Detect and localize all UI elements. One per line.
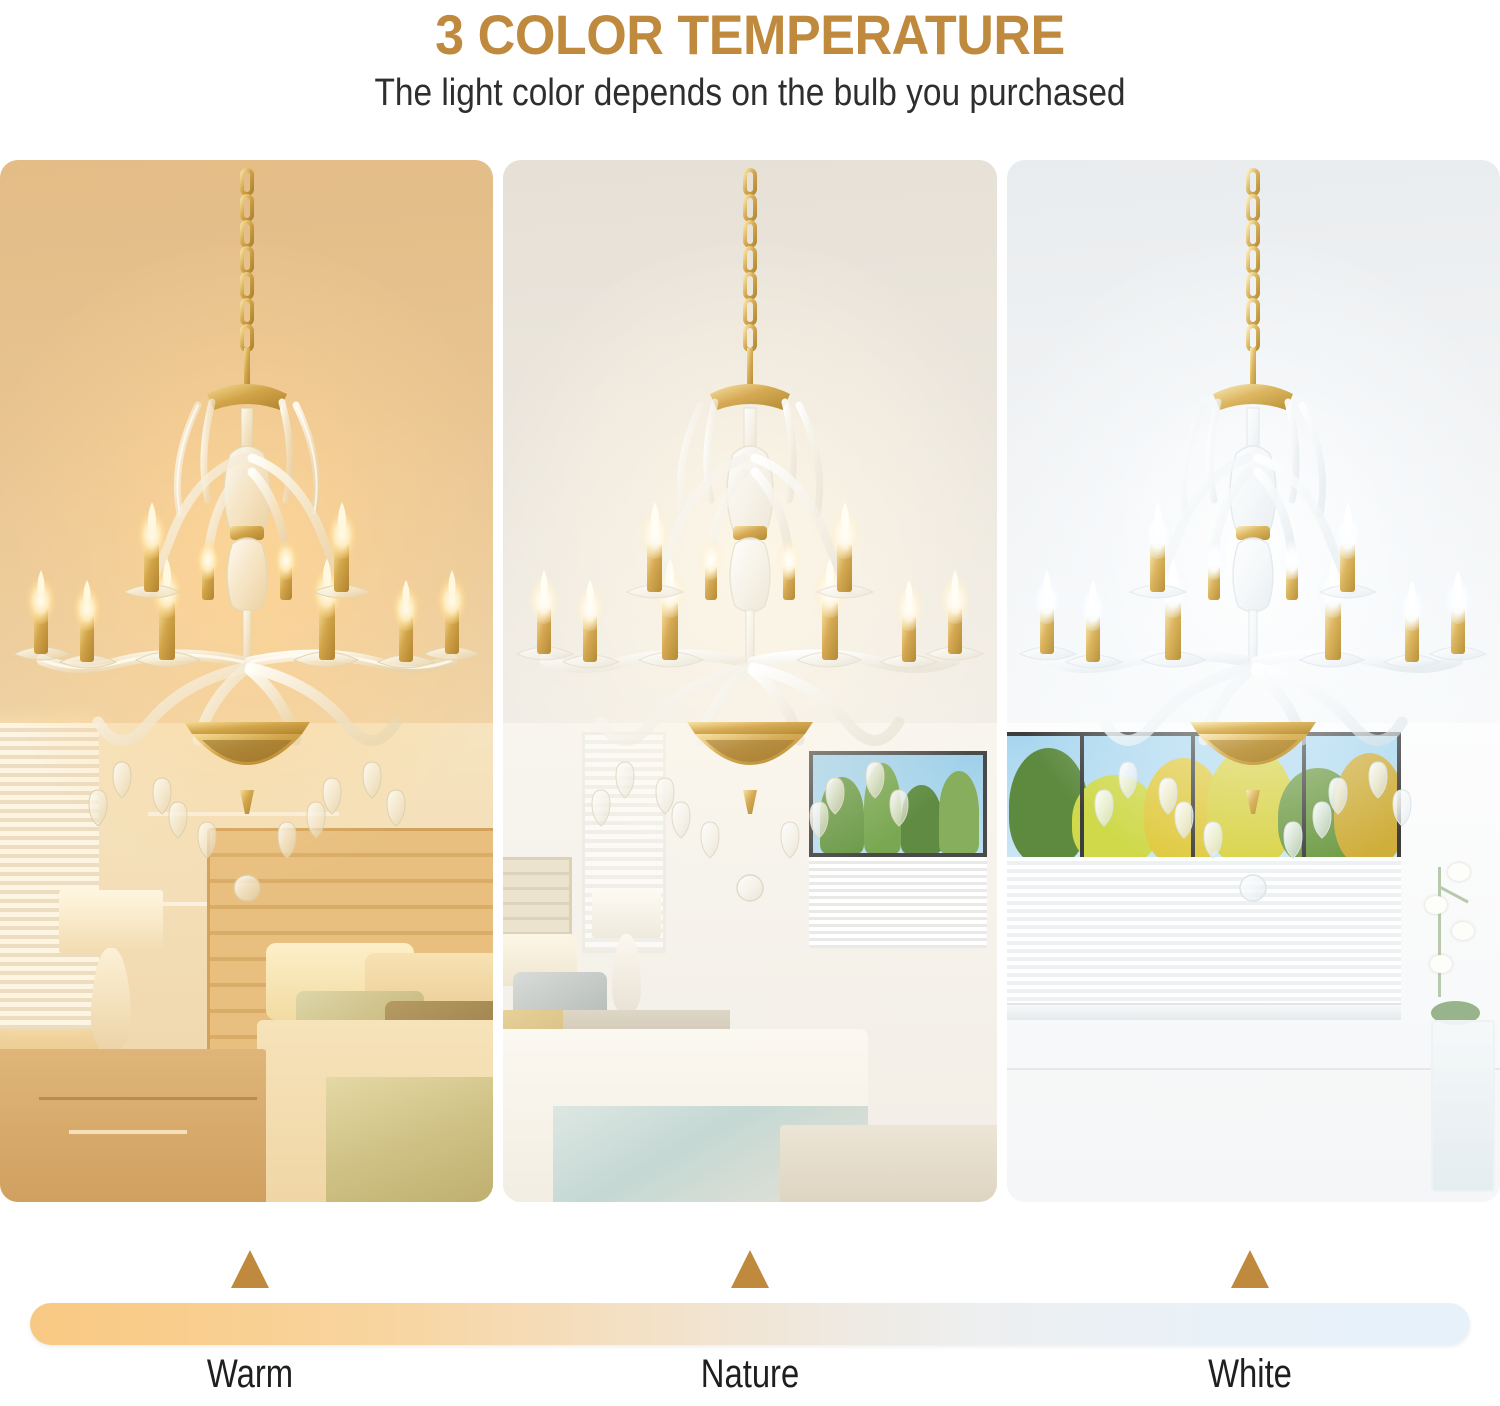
chandelier-white (1008, 162, 1498, 907)
color-temperature-labels: Warm Nature White (0, 1352, 1500, 1406)
nightstand-handle (69, 1130, 187, 1134)
page-title: 3 COLOR TEMPERATURE (53, 2, 1448, 67)
panel-warm[interactable] (0, 160, 493, 1202)
panel-white[interactable] (1007, 160, 1500, 1202)
color-temperature-gradient-bar (30, 1303, 1470, 1345)
chandelier-warm (2, 162, 492, 907)
bed-throw (326, 1077, 494, 1202)
color-temperature-markers (0, 1250, 1500, 1296)
marker-white-icon (1231, 1250, 1269, 1288)
label-warm: Warm (207, 1352, 293, 1397)
label-nature: Nature (701, 1352, 799, 1397)
label-white: White (1208, 1352, 1292, 1397)
wall-trim (1007, 1068, 1500, 1070)
marker-nature-icon (731, 1250, 769, 1288)
nightstand-drawer (39, 1097, 256, 1155)
window-sill (1007, 1005, 1402, 1019)
bed-bench (780, 1125, 997, 1202)
marker-warm-icon (231, 1250, 269, 1288)
panel-nature[interactable] (503, 160, 996, 1202)
page-subtitle: The light color depends on the bulb you … (90, 72, 1410, 115)
color-temperature-panel-strip (0, 160, 1500, 1202)
chandelier-nature (505, 162, 995, 907)
vase (1431, 1020, 1495, 1193)
